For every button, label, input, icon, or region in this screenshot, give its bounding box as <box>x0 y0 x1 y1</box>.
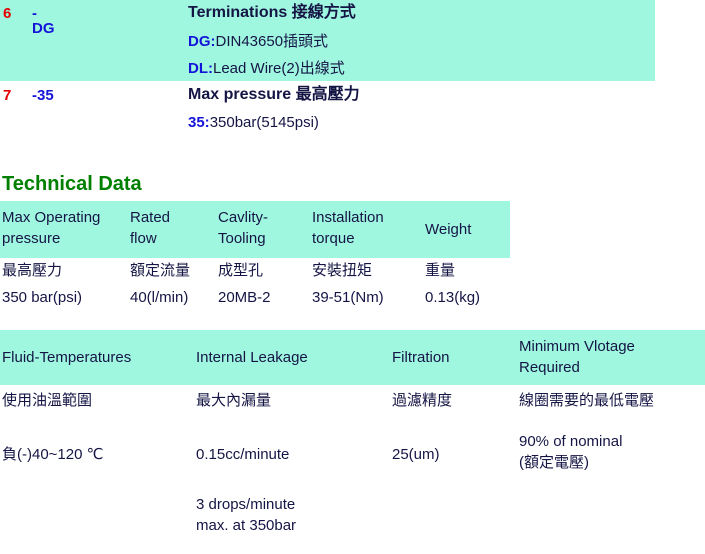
ordering-code-block: 6 -DG Terminations 接線方式 DG:DIN43650插頭式 D… <box>0 0 705 160</box>
table-2-chinese-internal-leakage: 最大內漏量 <box>196 393 271 408</box>
table-1-header-rated-flow: Rated flow <box>130 207 216 249</box>
table-1-chinese-rated-flow: 額定流量 <box>130 263 190 278</box>
table-1-header-band <box>0 201 510 258</box>
row-6-option-0: DG:DIN43650插頭式 <box>188 34 328 49</box>
row-7-option-0-value: 350bar(5145psi) <box>210 114 319 131</box>
table-1-chinese-cavity-tooling: 成型孔 <box>218 263 263 278</box>
table-1-value-weight: 0.13(kg) <box>425 290 480 305</box>
table-2-value-filtration: 25(um) <box>392 444 440 465</box>
table-1-header-max-operating-pressure: Max Operating pressure <box>2 207 130 249</box>
table-2-value-internal-leakage: 0.15cc/minute <box>196 444 289 465</box>
row-7-code: -35 <box>32 88 54 103</box>
row-6-option-1-value: Lead Wire(2)出線式 <box>213 60 345 77</box>
table-2-chinese-minimum-voltage-required: 線圈需要的最低電壓 <box>519 393 654 408</box>
table-2-extra-value-internal-leakage: 3 drops/minute max. at 350bar <box>196 494 296 536</box>
row-7-number: 7 <box>3 88 11 103</box>
table-2-chinese-fluid-temperatures: 使用油溫範圍 <box>2 393 92 408</box>
row-6-option-0-value: DIN43650插頭式 <box>216 33 329 50</box>
table-1-value-max-operating-pressure: 350 bar(psi) <box>2 290 82 305</box>
table-2-header-minimum-voltage-required: Minimum Vlotage Required <box>519 336 704 378</box>
table-1-value-cavity-tooling: 20MB-2 <box>218 290 271 305</box>
table-2-chinese-filtration: 過濾精度 <box>392 393 452 408</box>
row-6-option-0-key: DG: <box>188 33 216 50</box>
row-6-number: 6 <box>3 6 11 21</box>
row-6-title: Terminations 接線方式 <box>188 5 356 21</box>
row-6-code: -DG <box>32 6 55 36</box>
technical-data-heading: Technical Data <box>2 174 142 194</box>
row-7-option-0-key: 35: <box>188 114 210 131</box>
row-7-title: Max pressure 最高壓力 <box>188 87 360 103</box>
table-1-chinese-max-operating-pressure: 最高壓力 <box>2 263 62 278</box>
table-1-chinese-weight: 重量 <box>425 263 455 278</box>
table-2-header-filtration: Filtration <box>392 347 512 368</box>
table-2-header-band <box>0 330 705 385</box>
table-1-header-weight: Weight <box>425 219 505 240</box>
table-2-value-fluid-temperatures: 負(-)40~120 ℃ <box>2 444 103 465</box>
table-1-header-cavity-tooling: Cavlity- Tooling <box>218 207 310 249</box>
table-1-value-installation-torque: 39-51(Nm) <box>312 290 384 305</box>
table-2-value-minimum-voltage-required: 90% of nominal (額定電壓) <box>519 431 622 473</box>
table-1-value-rated-flow: 40(l/min) <box>130 290 188 305</box>
table-2-header-internal-leakage: Internal Leakage <box>196 347 386 368</box>
row-6-option-1: DL:Lead Wire(2)出線式 <box>188 61 345 76</box>
table-2-header-fluid-temperatures: Fluid-Temperatures <box>2 347 192 368</box>
row-6-option-1-key: DL: <box>188 60 213 77</box>
table-1-chinese-installation-torque: 安裝扭矩 <box>312 263 372 278</box>
row-7-option-0: 35:350bar(5145psi) <box>188 115 319 130</box>
table-1-header-installation-torque: Installation torque <box>312 207 422 249</box>
